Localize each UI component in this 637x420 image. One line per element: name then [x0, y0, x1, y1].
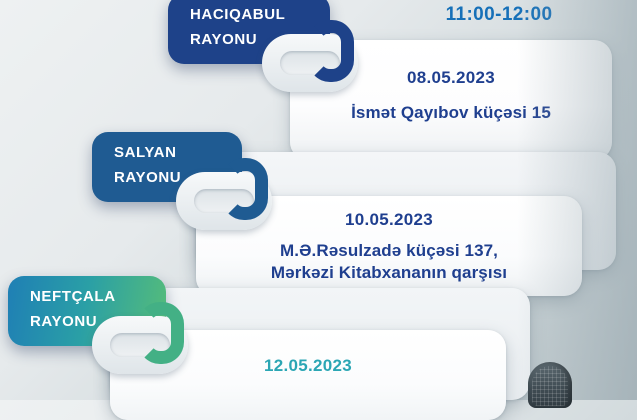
region-label-neftcala-line1: NEFTÇALA: [30, 284, 152, 309]
chain-link-icon: [176, 172, 272, 230]
chain-link-icon: [262, 34, 358, 92]
chain-link-icon: [92, 316, 188, 374]
microphone-mesh: [532, 366, 568, 406]
microphone-icon: [524, 362, 576, 408]
chain-link-hook: [308, 20, 354, 82]
region-label-salyan-line1: SALYAN: [114, 140, 228, 165]
infographic-canvas: 08.05.2023 İsmət Qayıbov küçəsi 15 10.05…: [0, 0, 637, 400]
right-edge-haze: [517, 0, 637, 400]
chain-link-hook: [222, 158, 268, 220]
region-label-haciqabul-line1: HACIQABUL: [190, 2, 316, 27]
chain-link-hook: [138, 302, 184, 364]
